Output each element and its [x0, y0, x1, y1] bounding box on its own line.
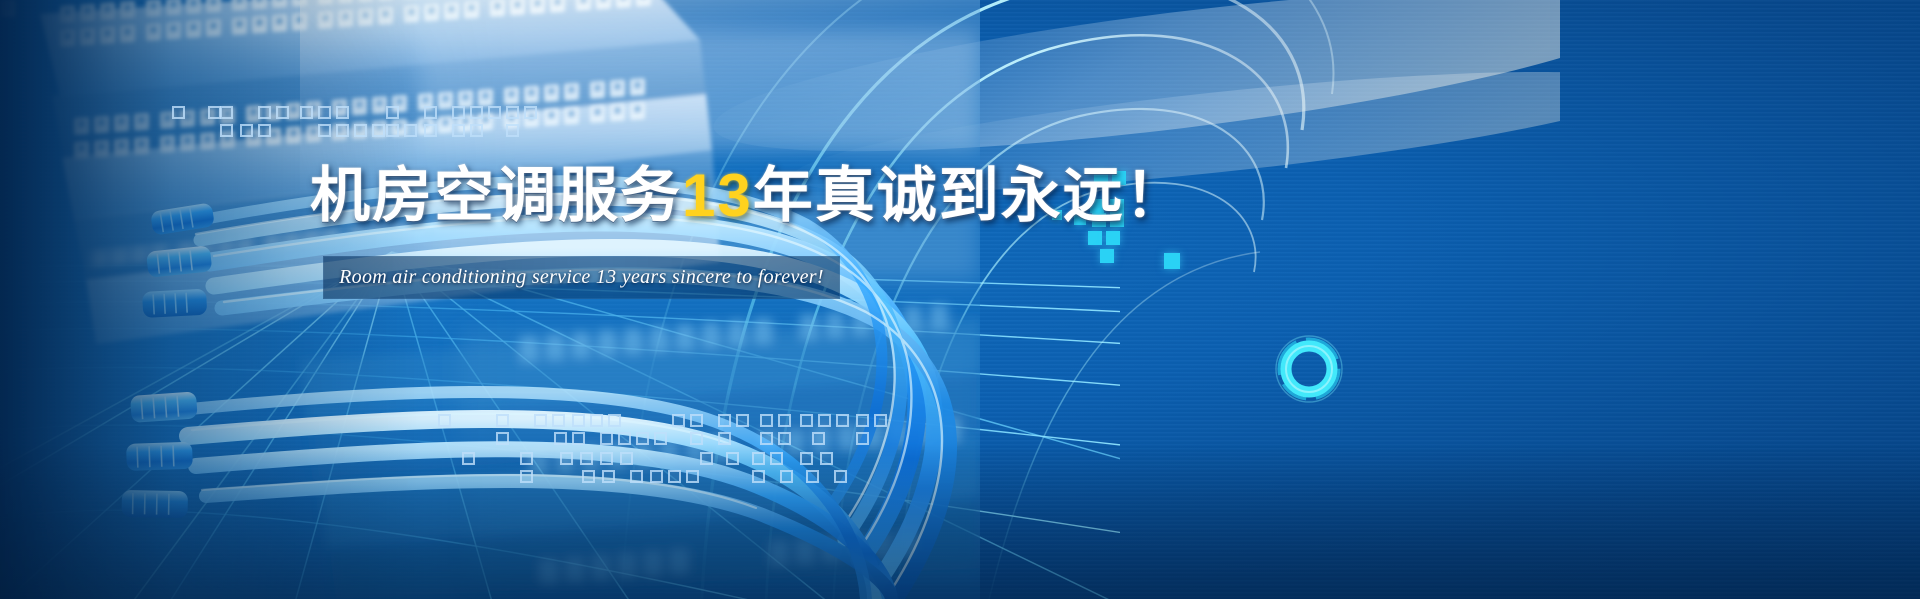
headline-suffix: 年真诚到永远！ — [753, 162, 1187, 229]
headline-prefix: 机房空调服务 — [310, 162, 682, 229]
page-title: 机房空调服务13年真诚到永远！ — [310, 166, 1187, 226]
filled-square-icon — [1100, 249, 1114, 263]
filled-square-icon — [1106, 231, 1120, 245]
filled-square-icon — [1164, 253, 1180, 269]
promo-banner: 机房空调服务13年真诚到永远！ Room air conditioning se… — [0, 0, 1920, 599]
filled-square-icon — [1088, 231, 1102, 245]
hud-ring-icon — [1272, 332, 1346, 406]
datacenter-photo — [0, 0, 980, 599]
headline-number: 13 — [682, 162, 753, 229]
subtitle: Room air conditioning service 13 years s… — [323, 256, 840, 299]
